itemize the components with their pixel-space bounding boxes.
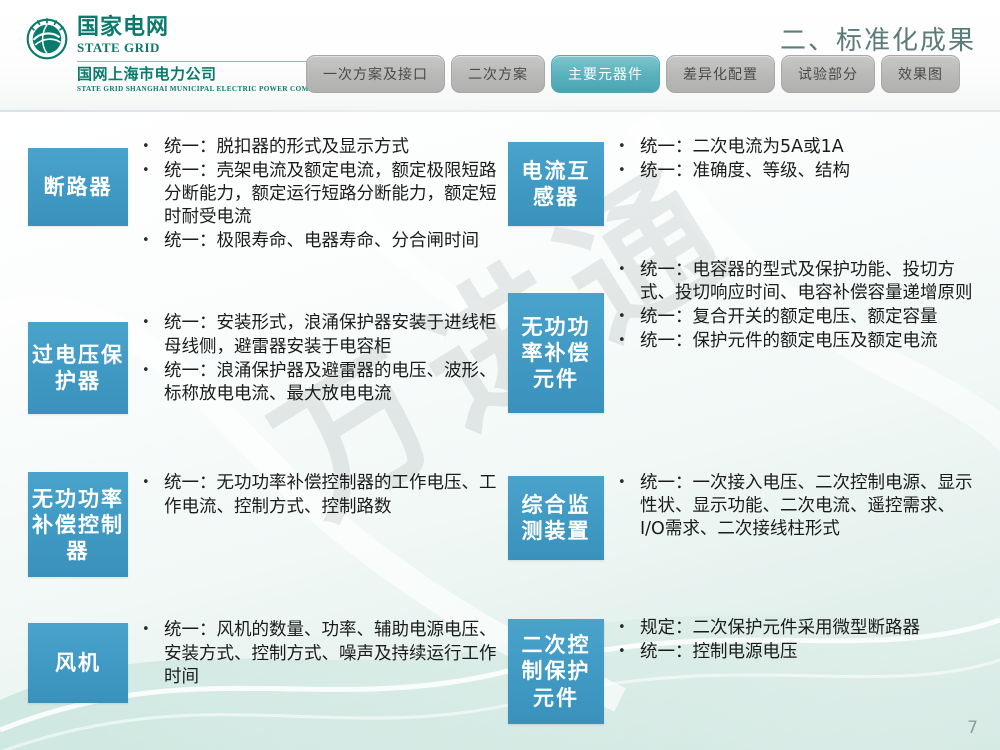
component-bullet-list: •统一：风机的数量、功率、辅助电源电压、安装方式、控制方式、噪声及持续运行工作时… bbox=[128, 617, 498, 689]
component-row: 电流互感器•统一：二次电流为5A或1A•统一：准确度、等级、结构 bbox=[508, 134, 978, 229]
bullet-dot-icon: • bbox=[618, 472, 640, 493]
bullet-item: •统一：电容器的型式及保护功能、投切方式、投切响应时间、电容补偿容量递增原则 bbox=[618, 259, 978, 305]
component-label-box: 电流互感器 bbox=[508, 142, 604, 226]
bullet-item: •统一：浪涌保护器及避雷器的电压、波形、标称放电电流、最大放电电流 bbox=[142, 360, 498, 406]
state-grid-globe-icon bbox=[26, 18, 68, 60]
bullet-text: 统一：无功功率补偿控制器的工作电压、工作电流、控制方式、控制路数 bbox=[164, 472, 498, 518]
bullet-dot-icon: • bbox=[142, 312, 164, 333]
bullet-dot-icon: • bbox=[618, 259, 640, 280]
bullet-text: 统一：极限寿命、电器寿命、分合闸时间 bbox=[164, 230, 498, 253]
bullet-item: •统一：保护元件的额定电压及额定电流 bbox=[618, 330, 978, 353]
bullet-dot-icon: • bbox=[142, 472, 164, 493]
component-label-box: 无功功率补偿元件 bbox=[508, 293, 604, 413]
tab-0[interactable]: 一次方案及接口 bbox=[306, 55, 445, 93]
bullet-dot-icon: • bbox=[142, 160, 164, 181]
bullet-dot-icon: • bbox=[618, 641, 640, 662]
component-row: 过电压保护器•统一：安装形式，浪涌保护器安装于进线柜母线侧，避雷器安装于电容柜•… bbox=[28, 310, 498, 420]
bullet-item: •统一：脱扣器的形式及显示方式 bbox=[142, 136, 498, 159]
bullet-item: •统一：壳架电流及额定电流，额定极限短路分断能力，额定运行短路分断能力，额定短时… bbox=[142, 160, 498, 229]
logo-company-cn: 国家电网 bbox=[77, 16, 339, 39]
bullet-item: •统一：一次接入电压、二次控制电源、显示性状、显示功能、二次电流、遥控需求、I/… bbox=[618, 472, 978, 541]
component-row: 二次控制保护元件•规定：二次保护元件采用微型断路器•统一：控制电源电压 bbox=[508, 615, 978, 724]
bullet-text: 统一：脱扣器的形式及显示方式 bbox=[164, 136, 498, 159]
bullet-text: 统一：保护元件的额定电压及额定电流 bbox=[640, 330, 978, 353]
component-label-box: 二次控制保护元件 bbox=[508, 619, 604, 724]
logo-subsidiary-cn: 国网上海市电力公司 bbox=[77, 66, 339, 83]
tab-4[interactable]: 试验部分 bbox=[781, 55, 875, 93]
bullet-text: 统一：准确度、等级、结构 bbox=[640, 160, 978, 183]
bullet-text: 统一：电容器的型式及保护功能、投切方式、投切响应时间、电容补偿容量递增原则 bbox=[640, 259, 978, 305]
bullet-dot-icon: • bbox=[142, 230, 164, 251]
bullet-dot-icon: • bbox=[142, 136, 164, 157]
component-row: 综合监测装置•统一：一次接入电压、二次控制电源、显示性状、显示功能、二次电流、遥… bbox=[508, 470, 978, 585]
component-bullet-list: •统一：无功功率补偿控制器的工作电压、工作电流、控制方式、控制路数 bbox=[128, 470, 498, 519]
bullet-text: 规定：二次保护元件采用微型断路器 bbox=[640, 617, 978, 640]
logo-divider bbox=[77, 61, 339, 62]
bullet-item: •统一：复合开关的额定电压、额定容量 bbox=[618, 306, 978, 329]
component-row: 断路器•统一：脱扣器的形式及显示方式•统一：壳架电流及额定电流，额定极限短路分断… bbox=[28, 134, 498, 254]
component-bullet-list: •规定：二次保护元件采用微型断路器•统一：控制电源电压 bbox=[604, 615, 978, 665]
bullet-dot-icon: • bbox=[618, 617, 640, 638]
component-row: 无功功率补偿元件•统一：电容器的型式及保护功能、投切方式、投切响应时间、电容补偿… bbox=[508, 257, 978, 432]
component-bullet-list: •统一：脱扣器的形式及显示方式•统一：壳架电流及额定电流，额定极限短路分断能力，… bbox=[128, 134, 498, 254]
logo-subsidiary-en: STATE GRID SHANGHAI MUNICIPAL ELECTRIC P… bbox=[77, 85, 339, 93]
component-label-box: 综合监测装置 bbox=[508, 476, 604, 560]
component-label-box: 过电压保护器 bbox=[28, 322, 128, 414]
right-column: 电流互感器•统一：二次电流为5A或1A•统一：准确度、等级、结构无功功率补偿元件… bbox=[508, 134, 978, 724]
component-bullet-list: •统一：安装形式，浪涌保护器安装于进线柜母线侧，避雷器安装于电容柜•统一：浪涌保… bbox=[128, 310, 498, 406]
bullet-dot-icon: • bbox=[618, 160, 640, 181]
bullet-item: •规定：二次保护元件采用微型断路器 bbox=[618, 617, 978, 640]
bullet-text: 统一：壳架电流及额定电流，额定极限短路分断能力，额定运行短路分断能力，额定短时耐… bbox=[164, 160, 498, 229]
bullet-text: 统一：复合开关的额定电压、额定容量 bbox=[640, 306, 978, 329]
bullet-item: •统一：安装形式，浪涌保护器安装于进线柜母线侧，避雷器安装于电容柜 bbox=[142, 312, 498, 358]
bullet-text: 统一：控制电源电压 bbox=[640, 641, 978, 664]
bullet-text: 统一：浪涌保护器及避雷器的电压、波形、标称放电电流、最大放电电流 bbox=[164, 360, 498, 406]
bullet-item: •统一：二次电流为5A或1A bbox=[618, 136, 978, 159]
bullet-dot-icon: • bbox=[142, 619, 164, 640]
bullet-item: •统一：准确度、等级、结构 bbox=[618, 160, 978, 183]
bullet-item: •统一：极限寿命、电器寿命、分合闸时间 bbox=[142, 230, 498, 253]
bullet-item: •统一：控制电源电压 bbox=[618, 641, 978, 664]
bullet-text: 统一：一次接入电压、二次控制电源、显示性状、显示功能、二次电流、遥控需求、I/O… bbox=[640, 472, 978, 541]
component-row: 无功功率补偿控制器•统一：无功功率补偿控制器的工作电压、工作电流、控制方式、控制… bbox=[28, 470, 498, 577]
header-divider bbox=[0, 110, 1000, 112]
bullet-dot-icon: • bbox=[618, 306, 640, 327]
component-row: 风机•统一：风机的数量、功率、辅助电源电压、安装方式、控制方式、噪声及持续运行工… bbox=[28, 617, 498, 707]
component-label-box: 断路器 bbox=[28, 148, 128, 226]
slide-canvas: 万进通 国家电网 STATE GRID 国网上海市电力公司 STATE GRID… bbox=[0, 0, 1000, 750]
bullet-text: 统一：二次电流为5A或1A bbox=[640, 136, 978, 159]
tab-5[interactable]: 效果图 bbox=[881, 55, 960, 93]
bullet-item: •统一：无功功率补偿控制器的工作电压、工作电流、控制方式、控制路数 bbox=[142, 472, 498, 518]
component-bullet-list: •统一：电容器的型式及保护功能、投切方式、投切响应时间、电容补偿容量递增原则•统… bbox=[604, 257, 978, 354]
component-bullet-list: •统一：一次接入电压、二次控制电源、显示性状、显示功能、二次电流、遥控需求、I/… bbox=[604, 470, 978, 542]
component-label-box: 风机 bbox=[28, 623, 128, 703]
section-tabbar: 一次方案及接口二次方案主要元器件差异化配置试验部分效果图 bbox=[306, 55, 960, 93]
logo-company-en: STATE GRID bbox=[77, 40, 339, 56]
left-column: 断路器•统一：脱扣器的形式及显示方式•统一：壳架电流及额定电流，额定极限短路分断… bbox=[28, 134, 498, 707]
bullet-text: 统一：风机的数量、功率、辅助电源电压、安装方式、控制方式、噪声及持续运行工作时间 bbox=[164, 619, 498, 688]
page-number: 7 bbox=[967, 718, 978, 738]
bullet-item: •统一：风机的数量、功率、辅助电源电压、安装方式、控制方式、噪声及持续运行工作时… bbox=[142, 619, 498, 688]
bullet-dot-icon: • bbox=[618, 330, 640, 351]
bullet-dot-icon: • bbox=[618, 136, 640, 157]
brand-logo: 国家电网 STATE GRID 国网上海市电力公司 STATE GRID SHA… bbox=[26, 16, 339, 93]
bullet-dot-icon: • bbox=[142, 360, 164, 381]
tab-3[interactable]: 差异化配置 bbox=[666, 55, 775, 93]
component-label-box: 无功功率补偿控制器 bbox=[28, 472, 128, 577]
tab-2[interactable]: 主要元器件 bbox=[551, 55, 660, 93]
component-bullet-list: •统一：二次电流为5A或1A•统一：准确度、等级、结构 bbox=[604, 134, 978, 184]
page-title: 二、标准化成果 bbox=[780, 20, 976, 57]
bullet-text: 统一：安装形式，浪涌保护器安装于进线柜母线侧，避雷器安装于电容柜 bbox=[164, 312, 498, 358]
tab-1[interactable]: 二次方案 bbox=[451, 55, 545, 93]
